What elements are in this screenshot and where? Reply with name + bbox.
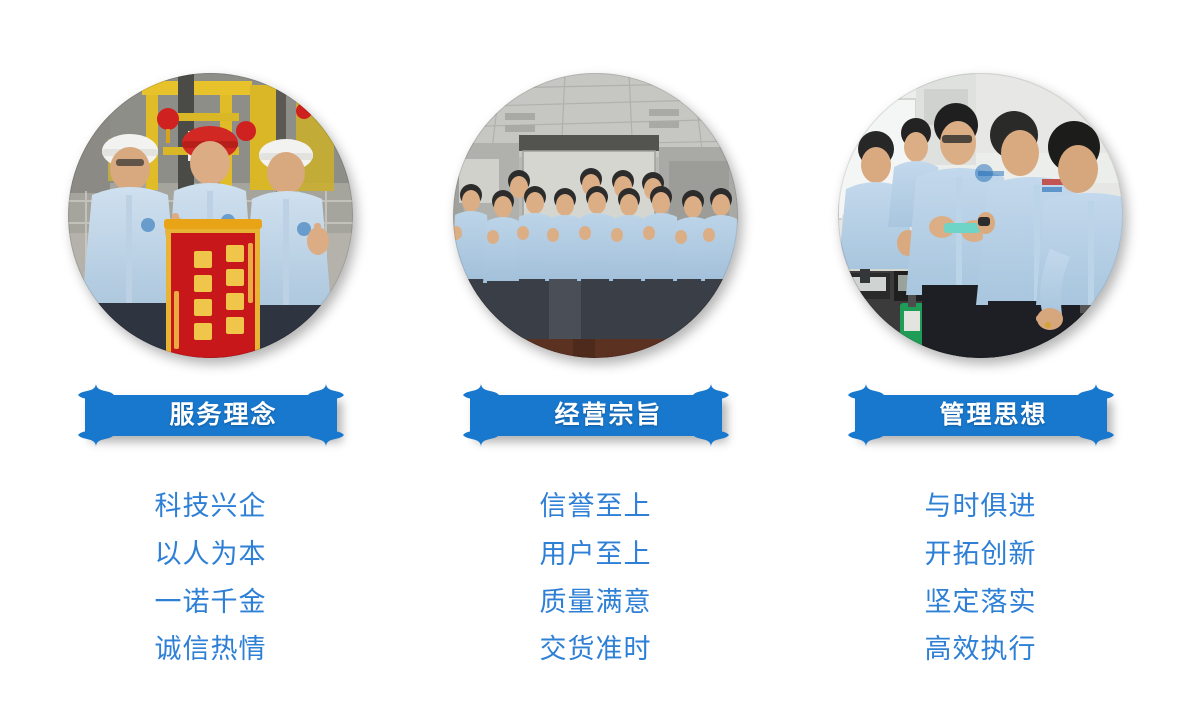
value-list: 信誉至上 用户至上 质量满意 交货准时 <box>540 490 652 667</box>
banner-title: 经营宗旨 <box>470 395 722 436</box>
value-item: 开拓创新 <box>925 538 1037 572</box>
banner-title: 管理思想 <box>855 395 1107 436</box>
banner-management-thinking: 管理思想 <box>845 382 1117 448</box>
banner-title: 服务理念 <box>85 395 337 436</box>
culture-column-business-purpose: 经营宗旨 信誉至上 用户至上 质量满意 交货准时 <box>403 0 788 712</box>
banner-service-philosophy: 服务理念 <box>75 382 347 448</box>
value-item: 信誉至上 <box>540 490 652 524</box>
team-group-meeting-photo <box>453 73 738 358</box>
value-item: 一诺千金 <box>155 586 267 620</box>
value-item: 诚信热情 <box>155 633 267 667</box>
value-item: 科技兴企 <box>155 490 267 524</box>
value-item: 用户至上 <box>540 538 652 572</box>
team-award-banner-photo <box>68 73 353 358</box>
photo-canvas <box>838 73 1123 358</box>
value-item: 以人为本 <box>155 538 267 572</box>
culture-column-management-thinking: 管理思想 与时俱进 开拓创新 坚定落实 高效执行 <box>788 0 1173 712</box>
photo-canvas <box>68 73 353 358</box>
culture-column-service-philosophy: 服务理念 科技兴企 以人为本 一诺千金 诚信热情 <box>18 0 403 712</box>
value-item: 与时俱进 <box>925 490 1037 524</box>
value-item: 坚定落实 <box>925 586 1037 620</box>
culture-columns: 服务理念 科技兴企 以人为本 一诺千金 诚信热情 <box>0 0 1190 712</box>
culture-page: 服务理念 科技兴企 以人为本 一诺千金 诚信热情 <box>0 0 1190 712</box>
value-list: 科技兴企 以人为本 一诺千金 诚信热情 <box>155 490 267 667</box>
value-item: 交货准时 <box>540 633 652 667</box>
value-item: 高效执行 <box>925 633 1037 667</box>
photo-canvas <box>453 73 738 358</box>
value-item: 质量满意 <box>540 586 652 620</box>
banner-business-purpose: 经营宗旨 <box>460 382 732 448</box>
value-list: 与时俱进 开拓创新 坚定落实 高效执行 <box>925 490 1037 667</box>
team-lab-inspection-photo <box>838 73 1123 358</box>
